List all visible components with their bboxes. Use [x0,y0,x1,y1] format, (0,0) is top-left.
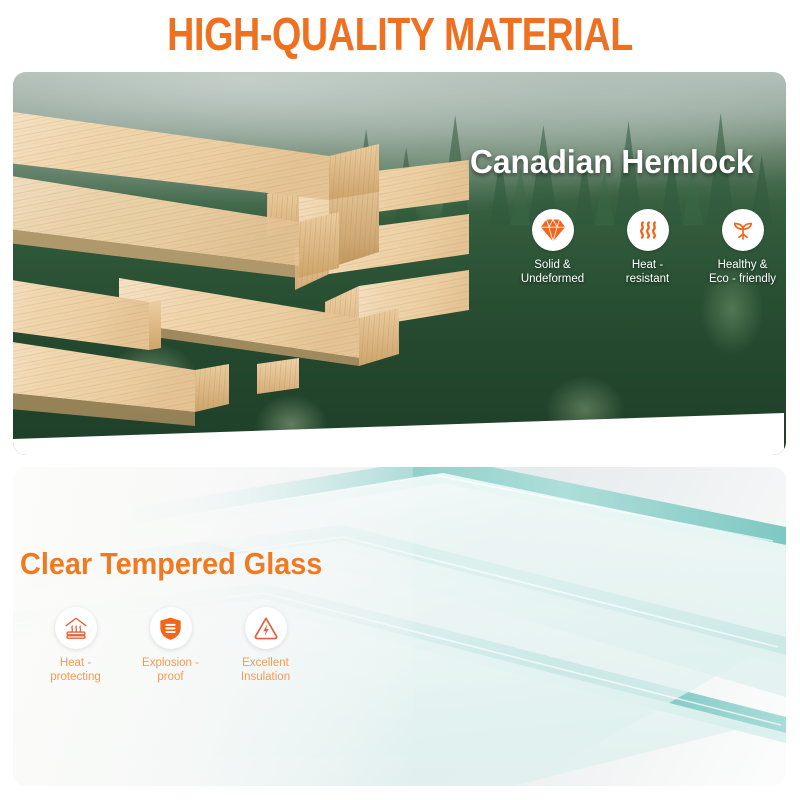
feature-healthy-eco-friendly: Healthy & Eco - friendly [695,209,790,286]
feature-icon-bubble [150,607,192,649]
heat-shield-layers-icon [63,615,89,641]
feature-label: Explosion - proof [142,656,199,684]
wood-beams-illustration [13,82,469,442]
diamond-gem-icon [540,217,566,243]
feature-heat-protecting: Heat - protecting [28,607,123,684]
feature-excellent-insulation: Excellent Insulation [218,607,313,684]
feature-icon-bubble [627,209,669,251]
heat-waves-icon [636,218,660,242]
wood-panel-heading: Canadian Hemlock [470,143,753,181]
page-title: HIGH-QUALITY MATERIAL [72,8,728,60]
lumber-stack-image [13,82,469,442]
feature-icon-bubble [245,607,287,649]
glass-feature-list: Heat - protecting Explosion - proof [28,607,328,684]
feature-label: Excellent Insulation [241,656,290,684]
feature-label: Heat - resistant [626,258,669,286]
shield-bars-icon [158,616,183,641]
feature-label: Healthy & Eco - friendly [709,258,776,286]
feature-solid-undeformed: Solid & Undeformed [505,209,600,286]
feature-heat-resistant: Heat - resistant [600,209,695,286]
feature-icon-bubble [722,209,764,251]
feature-label: Heat - protecting [50,656,101,684]
feature-label: Solid & Undeformed [521,258,584,286]
glass-panel-heading: Clear Tempered Glass [20,546,322,582]
product-feature-infographic: HIGH-QUALITY MATERIAL [0,0,800,800]
feature-icon-bubble [55,607,97,649]
sprout-plant-icon [730,217,756,243]
warning-bolt-icon [253,615,279,641]
feature-icon-bubble [532,209,574,251]
wood-feature-list: Solid & Undeformed Heat - resistant [505,209,790,286]
feature-explosion-proof: Explosion - proof [123,607,218,684]
